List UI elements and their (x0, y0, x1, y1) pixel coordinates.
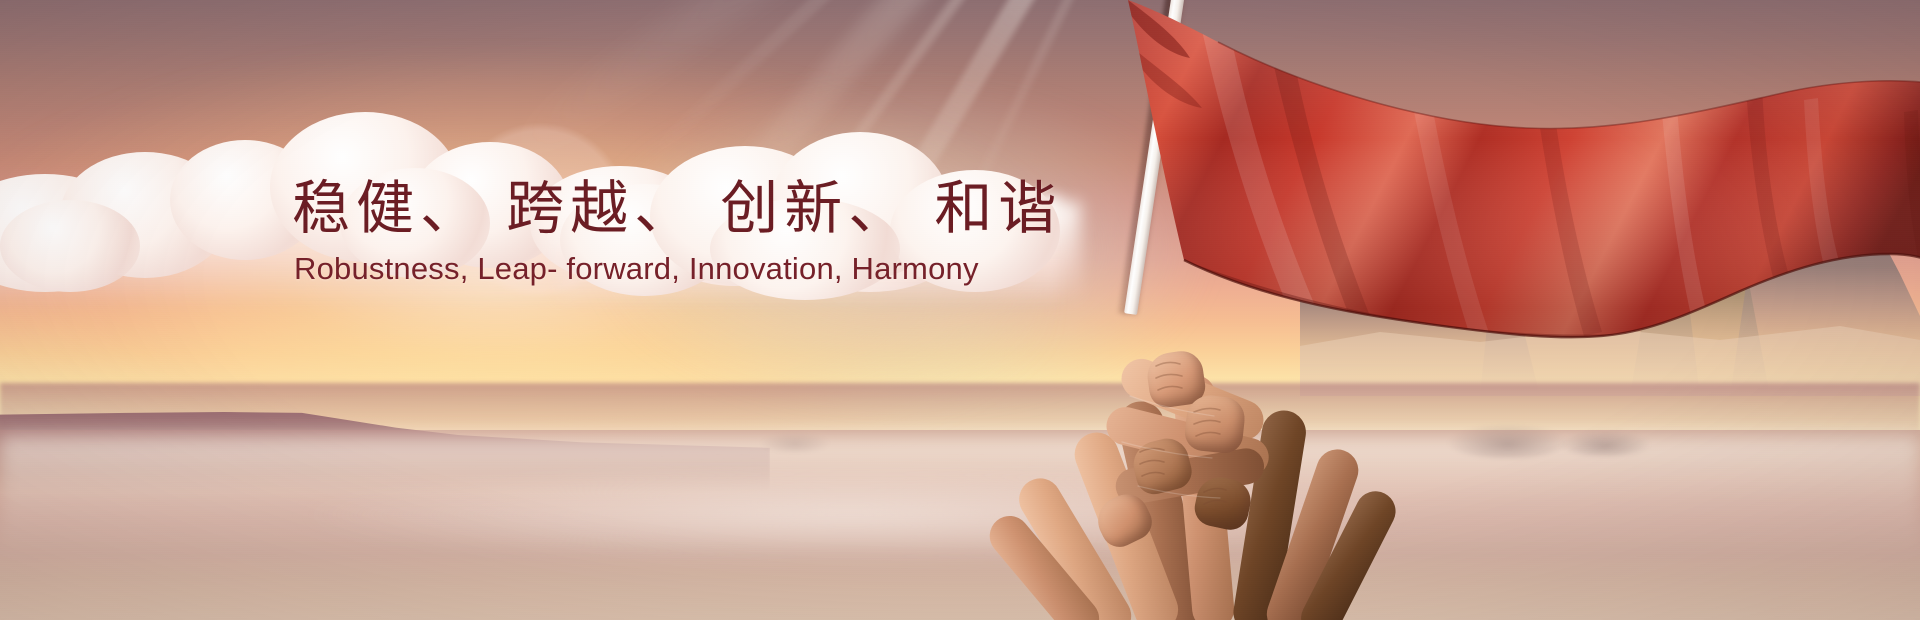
hand-detail (980, 300, 1400, 620)
raised-hands-group (980, 300, 1400, 620)
slogan-block: 稳健、 跨越、 创新、 和谐 Robustness, Leap- forward… (292, 178, 1012, 287)
page-subtitle: Robustness, Leap- forward, Innovation, H… (294, 251, 1012, 287)
distant-tree (760, 432, 830, 452)
hero-banner: 稳健、 跨越、 创新、 和谐 Robustness, Leap- forward… (0, 0, 1920, 620)
page-title: 稳健、 跨越、 创新、 和谐 (292, 178, 1012, 241)
